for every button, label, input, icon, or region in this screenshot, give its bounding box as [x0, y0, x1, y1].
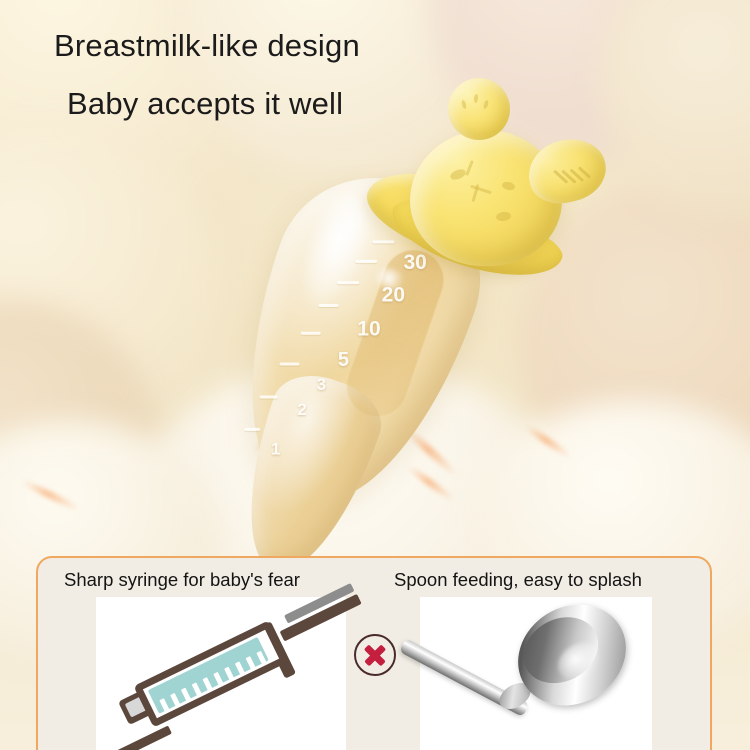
- syringe-graduation: [181, 688, 191, 702]
- comparison-panel: Sharp syringe for baby's fear Spoon feed…: [36, 556, 712, 750]
- comparison-caption-left: Sharp syringe for baby's fear: [64, 569, 300, 591]
- spoon-image-well: [420, 597, 652, 750]
- comparison-captions: Sharp syringe for baby's fear Spoon feed…: [38, 566, 710, 596]
- syringe-barrel: [134, 620, 289, 727]
- headline-line-1: Breastmilk-like design: [54, 30, 750, 61]
- syringe-graduation: [235, 661, 245, 675]
- cap-emboss-eye: [501, 181, 515, 192]
- product-bottle: 3020105321: [236, 62, 656, 532]
- syringe-icon: [96, 597, 346, 750]
- syringe-needle: [62, 725, 172, 750]
- syringe-image-well: [96, 597, 346, 750]
- comparison-caption-right: Spoon feeding, easy to splash: [394, 569, 642, 591]
- x-mark-icon: [354, 634, 396, 676]
- syringe-graduation: [213, 672, 223, 686]
- syringe-graduation: [224, 667, 234, 681]
- cap-emboss-cheek: [495, 211, 511, 222]
- spoon-icon: [420, 597, 652, 750]
- product-marketing-image: Breastmilk-like design Baby accepts it w…: [0, 0, 750, 750]
- syringe-graduation: [246, 656, 256, 670]
- syringe-graduation: [192, 682, 202, 696]
- headline-block: Breastmilk-like design Baby accepts it w…: [0, 30, 750, 119]
- syringe-graduation: [170, 693, 180, 707]
- syringe-graduation: [202, 677, 212, 691]
- headline-line-2: Baby accepts it well: [67, 88, 750, 119]
- cap-emboss-detail: [465, 160, 474, 176]
